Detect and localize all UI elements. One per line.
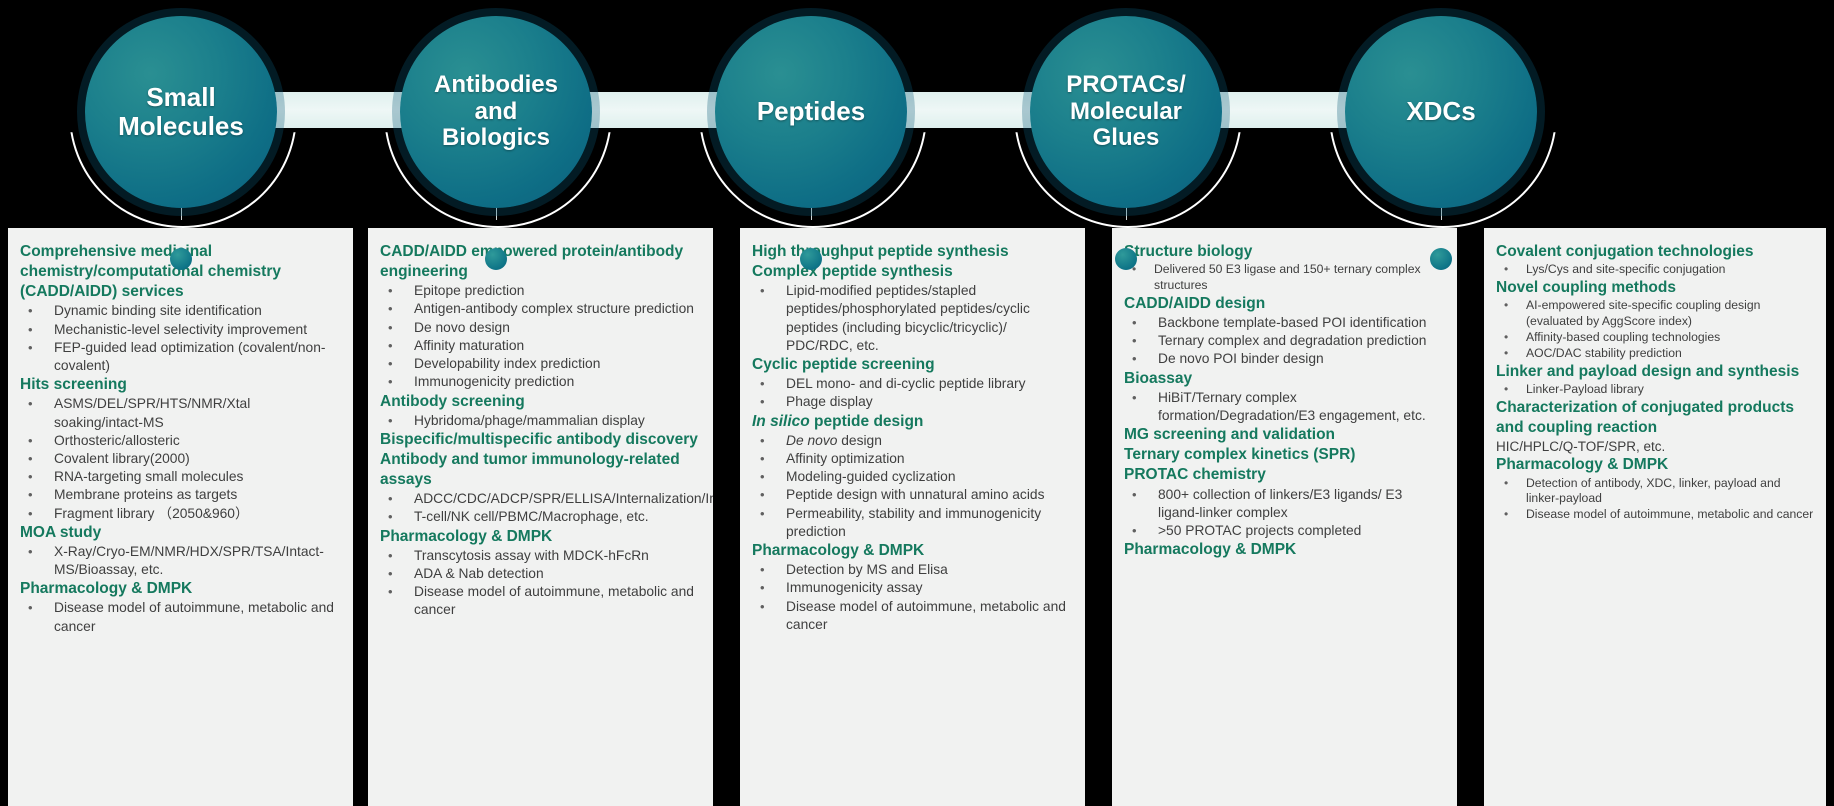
list-item: Disease model of autoimmune, metabolic a… (380, 583, 703, 619)
section-heading: Pharmacology & DMPK (380, 527, 703, 547)
list-item: ADA & Nab detection (380, 565, 703, 583)
list-item: De novo design (752, 432, 1075, 450)
node-label: Antibodies and Biologics (424, 72, 568, 153)
list-item: De novo POI binder design (1124, 350, 1447, 368)
node-peptides[interactable]: Peptides (715, 16, 907, 208)
section-heading: Linker and payload design and synthesis (1496, 362, 1816, 382)
bullet-list: Epitope prediction Antigen-antibody comp… (380, 282, 703, 391)
bullet-list: Detection by MS and Elisa Immunogenicity… (752, 561, 1075, 634)
panel-antibodies-and-biologics: CADD/AIDD empowered protein/antibody eng… (368, 228, 713, 806)
panel-small-molecules: Comprehensive medicinal chemistry/comput… (8, 228, 353, 806)
connector-dot-1 (170, 248, 192, 270)
section-heading: Pharmacology & DMPK (752, 541, 1075, 561)
section-heading: Cyclic peptide screening (752, 355, 1075, 375)
list-item-rest: design (837, 433, 882, 448)
list-item: ADCC/CDC/ADCP/SPR/ELLISA/Internalization… (380, 490, 703, 508)
list-item: HiBiT/Ternary complex formation/Degradat… (1124, 389, 1447, 425)
bullet-list: X-Ray/Cryo-EM/NMR/HDX/SPR/TSA/Intact-MS/… (20, 543, 343, 579)
section-heading: CADD/AIDD design (1124, 294, 1447, 314)
node-label: Small Molecules (108, 83, 254, 141)
section-heading: Hits screening (20, 375, 343, 395)
list-item: DEL mono- and di-cyclic peptide library (752, 375, 1075, 393)
list-item: Phage display (752, 393, 1075, 411)
node-circle: Small Molecules (85, 16, 277, 208)
list-item: Affinity maturation (380, 337, 703, 355)
section-heading: Structure biology (1124, 242, 1447, 262)
list-item: Linker-Payload library (1496, 382, 1816, 398)
list-item: Hybridoma/phage/mammalian display (380, 412, 703, 430)
list-item: Fragment library （2050&960） (20, 505, 343, 523)
section-heading: Ternary complex kinetics (SPR) (1124, 445, 1447, 465)
bullet-list: Lys/Cys and site-specific conjugation (1496, 262, 1816, 278)
list-item: Ternary complex and degradation predicti… (1124, 332, 1447, 350)
list-item: Covalent library(2000) (20, 450, 343, 468)
list-item: Immunogenicity assay (752, 579, 1075, 597)
section-heading: Antibody and tumor immunology-related as… (380, 450, 703, 490)
list-item: Membrane proteins as targets (20, 486, 343, 504)
section-heading: Pharmacology & DMPK (1124, 540, 1447, 560)
list-item: Affinity optimization (752, 450, 1075, 468)
list-item: Mechanistic-level selectivity improvemen… (20, 321, 343, 339)
section-heading: Bispecific/multispecific antibody discov… (380, 430, 703, 450)
list-item: Lys/Cys and site-specific conjugation (1496, 262, 1816, 278)
node-xdcs[interactable]: XDCs (1345, 16, 1537, 208)
node-circle: Peptides (715, 16, 907, 208)
bullet-list: Backbone template-based POI identificati… (1124, 314, 1447, 369)
bullet-list: Dynamic binding site identification Mech… (20, 302, 343, 375)
list-item: Detection of antibody, XDC, linker, payl… (1496, 476, 1816, 508)
list-item: Detection by MS and Elisa (752, 561, 1075, 579)
node-label: XDCs (1396, 97, 1485, 126)
bullet-list: HiBiT/Ternary complex formation/Degradat… (1124, 389, 1447, 425)
list-item: De novo design (380, 319, 703, 337)
section-heading: MG screening and validation (1124, 425, 1447, 445)
bullet-list: Detection of antibody, XDC, linker, payl… (1496, 476, 1816, 524)
list-item: Disease model of autoimmune, metabolic a… (20, 599, 343, 635)
node-label: Peptides (747, 97, 875, 126)
node-small-molecules[interactable]: Small Molecules (85, 16, 277, 208)
node-circle: PROTACs/ Molecular Glues (1030, 16, 1222, 208)
list-item: Antigen-antibody complex structure predi… (380, 300, 703, 318)
bullet-list: 800+ collection of linkers/E3 ligands/ E… (1124, 486, 1447, 541)
bullet-list: Hybridoma/phage/mammalian display (380, 412, 703, 430)
bullet-list: DEL mono- and di-cyclic peptide library … (752, 375, 1075, 411)
node-protacs-molecular-glues[interactable]: PROTACs/ Molecular Glues (1030, 16, 1222, 208)
section-heading: Bioassay (1124, 369, 1447, 389)
list-item: Backbone template-based POI identificati… (1124, 314, 1447, 332)
connector-dot-3 (800, 248, 822, 270)
section-heading: Covalent conjugation technologies (1496, 242, 1816, 262)
section-heading: PROTAC chemistry (1124, 465, 1447, 485)
node-label: PROTACs/ Molecular Glues (1056, 72, 1196, 153)
list-item: Transcytosis assay with MDCK-hFcRn (380, 547, 703, 565)
bullet-list: ASMS/DEL/SPR/HTS/NMR/Xtal soaking/intact… (20, 395, 343, 522)
list-item: X-Ray/Cryo-EM/NMR/HDX/SPR/TSA/Intact-MS/… (20, 543, 343, 579)
panel-xdcs: Covalent conjugation technologies Lys/Cy… (1484, 228, 1826, 806)
connector-dot-4 (1115, 248, 1137, 270)
section-heading-in-silico: In silico peptide design (752, 412, 1075, 432)
list-item: Permeability, stability and immunogenici… (752, 505, 1075, 541)
list-item: Delivered 50 E3 ligase and 150+ ternary … (1124, 262, 1447, 294)
section-heading: Characterization of conjugated products … (1496, 398, 1816, 438)
section-heading: Pharmacology & DMPK (20, 579, 343, 599)
list-item: Disease model of autoimmune, metabolic a… (752, 598, 1075, 634)
connector-dot-2 (485, 248, 507, 270)
list-item: AOC/DAC stability prediction (1496, 346, 1816, 362)
section-heading: Novel coupling methods (1496, 278, 1816, 298)
list-item: T-cell/NK cell/PBMC/Macrophage, etc. (380, 508, 703, 526)
bullet-list: ADCC/CDC/ADCP/SPR/ELLISA/Internalization… (380, 490, 703, 526)
list-item: Lipid-modified peptides/stapled peptides… (752, 282, 1075, 355)
section-heading-emphasis: In silico (752, 413, 810, 430)
list-item: FEP-guided lead optimization (covalent/n… (20, 339, 343, 375)
connector-dot-5 (1430, 248, 1452, 270)
panel-protacs-molecular-glues: Structure biology Delivered 50 E3 ligase… (1112, 228, 1457, 806)
list-item: Immunogenicity prediction (380, 373, 703, 391)
list-item: Orthosteric/allosteric (20, 432, 343, 450)
list-item: Developability index prediction (380, 355, 703, 373)
header-node-band: Small Molecules Antibodies and Biologics… (0, 0, 1834, 258)
list-item: Dynamic binding site identification (20, 302, 343, 320)
node-circle: Antibodies and Biologics (400, 16, 592, 208)
section-heading: Complex peptide synthesis (752, 262, 1075, 282)
bullet-list: AI-empowered site-specific coupling desi… (1496, 298, 1816, 361)
bullet-list: Lipid-modified peptides/stapled peptides… (752, 282, 1075, 355)
list-item: Disease model of autoimmune, metabolic a… (1496, 507, 1816, 523)
section-heading: CADD/AIDD empowered protein/antibody eng… (380, 242, 703, 282)
section-heading: Pharmacology & DMPK (1496, 455, 1816, 475)
section-note: HIC/HPLC/Q-TOF/SPR, etc. (1496, 438, 1816, 456)
section-heading: MOA study (20, 523, 343, 543)
list-item: RNA-targeting small molecules (20, 468, 343, 486)
list-item: >50 PROTAC projects completed (1124, 522, 1447, 540)
list-item: Peptide design with unnatural amino acid… (752, 486, 1075, 504)
bullet-list: Linker-Payload library (1496, 382, 1816, 398)
list-item: Affinity-based coupling technologies (1496, 330, 1816, 346)
node-circle: XDCs (1345, 16, 1537, 208)
list-item-emphasis: De novo (786, 433, 837, 448)
list-item: Epitope prediction (380, 282, 703, 300)
list-item: Modeling-guided cyclization (752, 468, 1075, 486)
bullet-list: Disease model of autoimmune, metabolic a… (20, 599, 343, 635)
list-item: 800+ collection of linkers/E3 ligands/ E… (1124, 486, 1447, 522)
section-heading: Antibody screening (380, 392, 703, 412)
list-item: AI-empowered site-specific coupling desi… (1496, 298, 1816, 330)
panel-peptides: High throughput peptide synthesis Comple… (740, 228, 1085, 806)
bullet-list: De novo design Affinity optimization Mod… (752, 432, 1075, 541)
list-item: ASMS/DEL/SPR/HTS/NMR/Xtal soaking/intact… (20, 395, 343, 431)
bullet-list: Transcytosis assay with MDCK-hFcRn ADA &… (380, 547, 703, 620)
bullet-list: Delivered 50 E3 ligase and 150+ ternary … (1124, 262, 1447, 294)
node-antibodies-and-biologics[interactable]: Antibodies and Biologics (400, 16, 592, 208)
section-heading-rest: peptide design (810, 413, 924, 430)
